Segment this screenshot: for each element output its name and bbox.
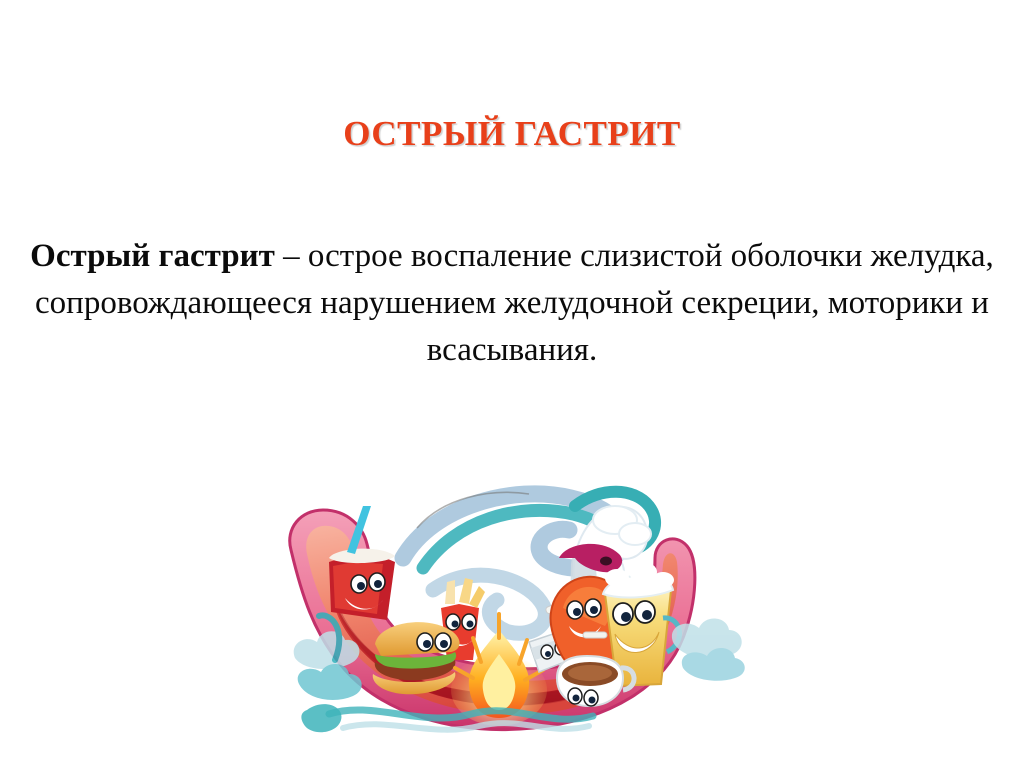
stomach-illustration-svg xyxy=(283,462,745,743)
stomach-illustration xyxy=(283,462,745,743)
page-title: ОСТРЫЙ ГАСТРИТ xyxy=(0,115,1024,154)
definition-term: Острый гастрит xyxy=(30,238,275,274)
slide-canvas: ОСТРЫЙ ГАСТРИТ Острый гастрит – острое в… xyxy=(0,0,1024,767)
definition-paragraph: Острый гастрит – острое воспаление слизи… xyxy=(22,233,1002,374)
burger-character-icon xyxy=(373,622,460,694)
